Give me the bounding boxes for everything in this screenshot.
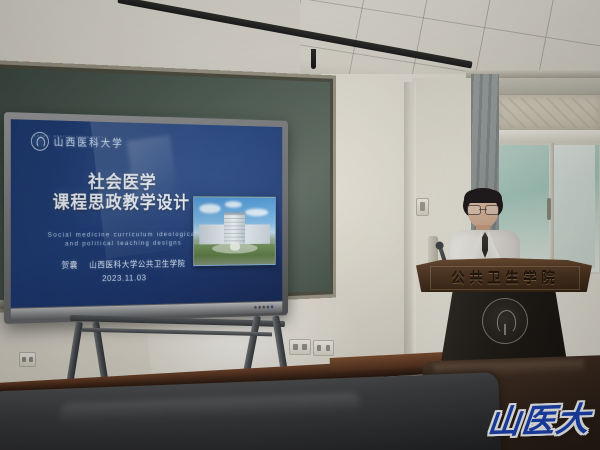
- window-header: [493, 78, 600, 94]
- presentation-slide: 山西医科大学 SHANXI MEDICAL UNIVERSITY 社会医学 课程…: [11, 119, 282, 308]
- speaker-fringe: [464, 190, 502, 203]
- display-button[interactable]: [267, 306, 269, 308]
- display-screen[interactable]: 山西医科大学 SHANXI MEDICAL UNIVERSITY 社会医学 课程…: [11, 119, 282, 308]
- wall-corner: [404, 82, 416, 398]
- university-seal-icon: [482, 298, 528, 344]
- display-control-buttons[interactable]: [254, 305, 273, 308]
- slide-presenter-affiliation: 山西医科大学公共卫生学院: [89, 259, 185, 270]
- podium-plaque: 公共卫生学院: [430, 266, 580, 290]
- light-switch-icon[interactable]: [416, 198, 429, 216]
- window-pane-right: [554, 145, 595, 268]
- screen-glare-secondary: [126, 135, 178, 203]
- display-button[interactable]: [263, 306, 265, 308]
- window-rail: [493, 130, 600, 143]
- wall-outlet-icon[interactable]: [19, 352, 36, 367]
- lectern-podium: 公共卫生学院: [416, 258, 592, 368]
- campus-fountain: [230, 242, 240, 251]
- building-wing-right: [245, 224, 270, 244]
- window-handle-icon[interactable]: [547, 198, 551, 220]
- cloud-shape: [245, 208, 269, 216]
- rail-drop-hook: [311, 49, 316, 69]
- slide-date: 2023.11.03: [34, 272, 211, 285]
- display-button[interactable]: [259, 306, 261, 308]
- window-transom: [495, 94, 600, 132]
- slide-presenter-name: 贺囊: [61, 260, 78, 270]
- display-button[interactable]: [254, 306, 256, 308]
- power-indicator-icon[interactable]: [271, 305, 273, 307]
- glasses-icon: [467, 205, 499, 213]
- classroom-photo-scene: 山西医科大学 SHANXI MEDICAL UNIVERSITY 社会医学 课程…: [0, 0, 600, 450]
- watermark: 山医大: [485, 392, 593, 444]
- interactive-whiteboard-display[interactable]: 山西医科大学 SHANXI MEDICAL UNIVERSITY 社会医学 课程…: [4, 112, 288, 324]
- slide-presenter-line: 贺囊 山西医科大学公共卫生学院: [34, 257, 211, 271]
- podium-plaque-text: 公共卫生学院: [451, 268, 559, 288]
